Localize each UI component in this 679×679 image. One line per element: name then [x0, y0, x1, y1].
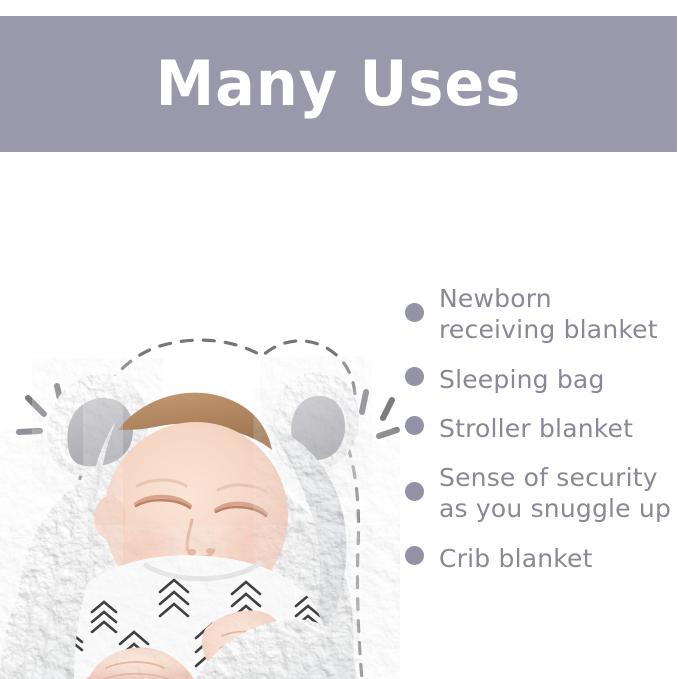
baby-blanket-illustration [0, 160, 400, 679]
list-item: Sleeping bag [405, 364, 673, 395]
sparkle-right [362, 392, 397, 436]
use-label: Sense of security as you snuggle up [439, 462, 671, 525]
bullet-dot-icon [405, 482, 424, 501]
infographic-page: Many Uses [0, 0, 679, 679]
list-item: Sense of security as you snuggle up [405, 462, 673, 525]
list-item: Newborn receiving blanket [405, 283, 673, 346]
page-title: Many Uses [156, 53, 522, 115]
bear-ear-right [273, 372, 359, 472]
bullet-dot-icon [405, 367, 424, 386]
list-item: Crib blanket [405, 543, 673, 574]
product-photo [0, 160, 400, 679]
use-label: Crib blanket [439, 543, 593, 574]
bullet-dot-icon [405, 416, 424, 435]
use-label: Stroller blanket [439, 413, 633, 444]
header-banner: Many Uses [0, 16, 677, 152]
bullet-dot-icon [405, 546, 424, 565]
uses-list: Newborn receiving blanket Sleeping bag S… [405, 283, 673, 574]
use-label: Newborn receiving blanket [439, 283, 671, 346]
use-label: Sleeping bag [439, 364, 605, 395]
bullet-dot-icon [405, 303, 424, 322]
list-item: Stroller blanket [405, 413, 673, 444]
